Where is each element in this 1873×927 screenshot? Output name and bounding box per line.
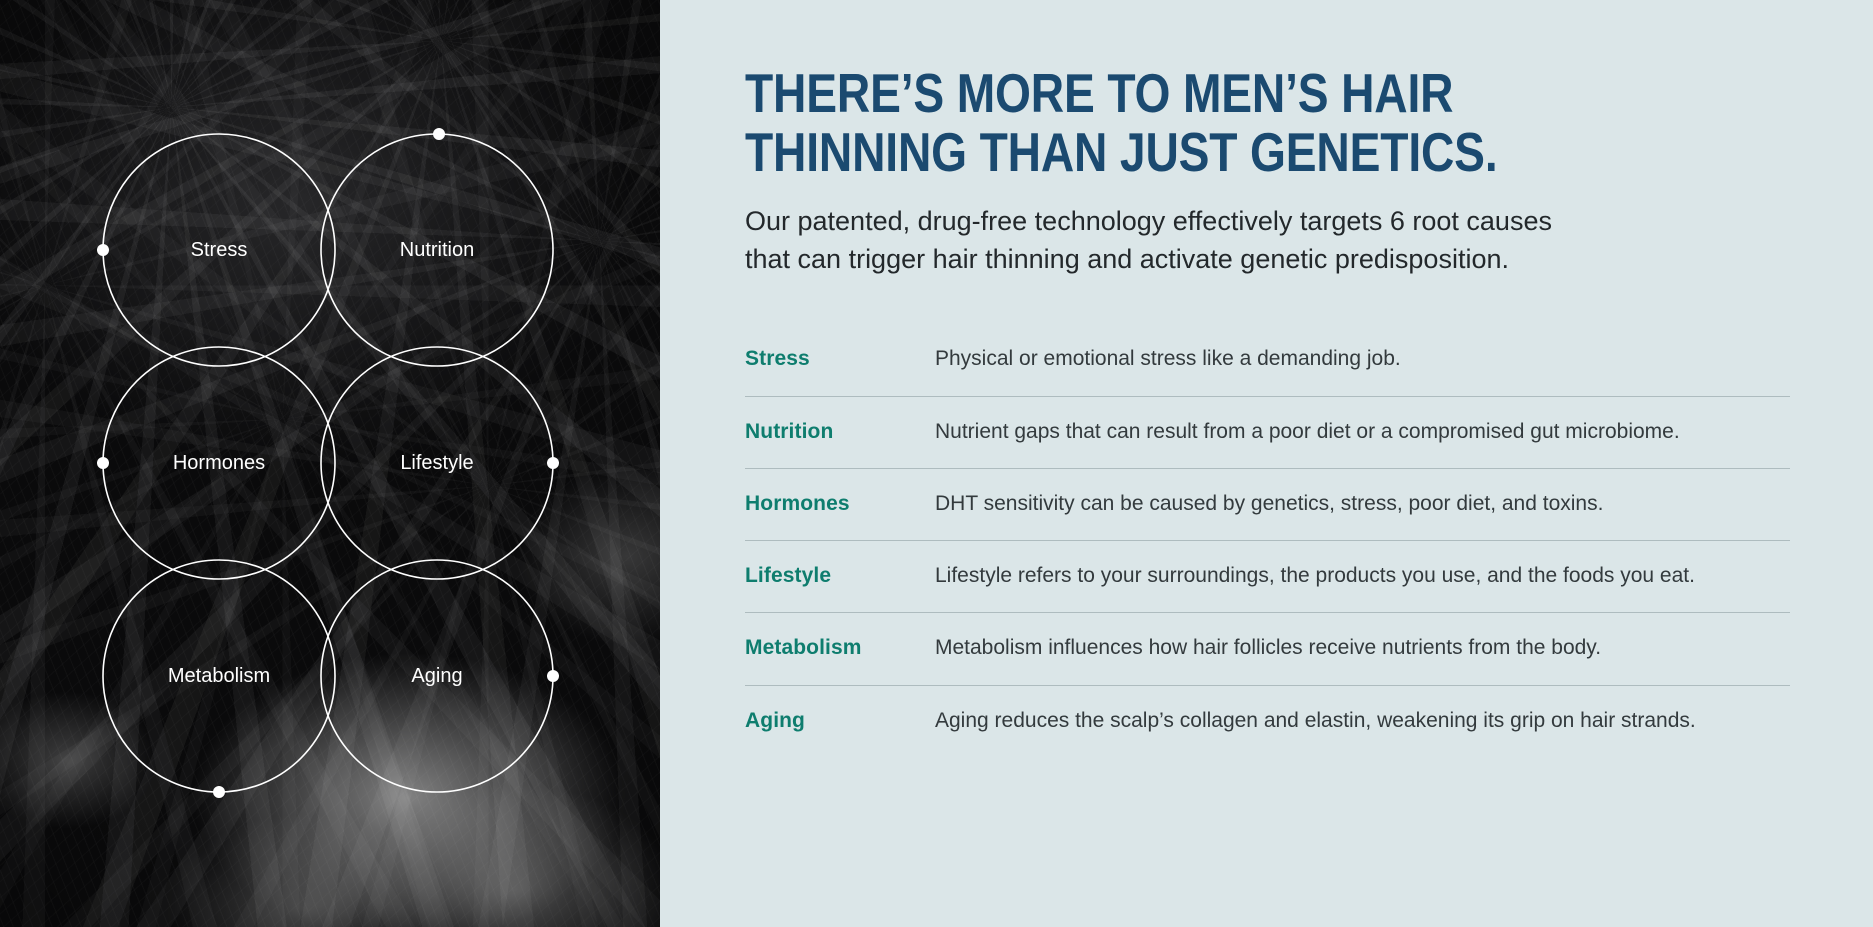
- venn-circle-label-aging: Aging: [411, 665, 462, 687]
- venn-node-dot-stress: [97, 244, 109, 256]
- venn-circle-label-hormones: Hormones: [173, 452, 265, 474]
- cause-label-stress: Stress: [745, 346, 935, 372]
- cause-label-metabolism: Metabolism: [745, 635, 935, 661]
- cause-row: LifestyleLifestyle refers to your surrou…: [745, 541, 1790, 613]
- content-panel: THERE’S MORE TO MEN’S HAIR THINNING THAN…: [660, 0, 1873, 927]
- venn-circle-label-nutrition: Nutrition: [400, 239, 474, 261]
- cause-label-nutrition: Nutrition: [745, 419, 935, 445]
- cause-label-aging: Aging: [745, 708, 935, 734]
- cause-row: StressPhysical or emotional stress like …: [745, 324, 1790, 396]
- cause-row: MetabolismMetabolism influences how hair…: [745, 613, 1790, 685]
- subheading-text: Our patented, drug-free technology effec…: [745, 202, 1705, 279]
- cause-row: NutritionNutrient gaps that can result f…: [745, 397, 1790, 469]
- cause-description-nutrition: Nutrient gaps that can result from a poo…: [935, 419, 1790, 445]
- venn-node-dot-lifestyle: [547, 457, 559, 469]
- hero-photo-panel: StressNutritionHormonesLifestyleMetaboli…: [0, 0, 660, 927]
- cause-row: AgingAging reduces the scalp’s collagen …: [745, 686, 1790, 757]
- cause-description-stress: Physical or emotional stress like a dema…: [935, 346, 1790, 372]
- cause-description-lifestyle: Lifestyle refers to your surroundings, t…: [935, 563, 1790, 589]
- venn-circle-label-lifestyle: Lifestyle: [400, 452, 473, 474]
- venn-node-dot-metabolism: [213, 786, 225, 798]
- venn-node-dot-hormones: [97, 457, 109, 469]
- cause-row: HormonesDHT sensitivity can be caused by…: [745, 469, 1790, 541]
- root-causes-list: StressPhysical or emotional stress like …: [745, 324, 1790, 757]
- cause-description-aging: Aging reduces the scalp’s collagen and e…: [935, 708, 1790, 734]
- venn-node-dot-aging: [547, 670, 559, 682]
- six-causes-venn-diagram: StressNutritionHormonesLifestyleMetaboli…: [0, 0, 660, 927]
- venn-circle-label-metabolism: Metabolism: [168, 665, 270, 687]
- venn-node-dot-nutrition: [433, 128, 445, 140]
- venn-circle-label-stress: Stress: [191, 239, 248, 261]
- cause-label-hormones: Hormones: [745, 491, 935, 517]
- page-title: THERE’S MORE TO MEN’S HAIR THINNING THAN…: [745, 64, 1623, 182]
- cause-label-lifestyle: Lifestyle: [745, 563, 935, 589]
- cause-description-hormones: DHT sensitivity can be caused by genetic…: [935, 491, 1790, 517]
- cause-description-metabolism: Metabolism influences how hair follicles…: [935, 635, 1790, 661]
